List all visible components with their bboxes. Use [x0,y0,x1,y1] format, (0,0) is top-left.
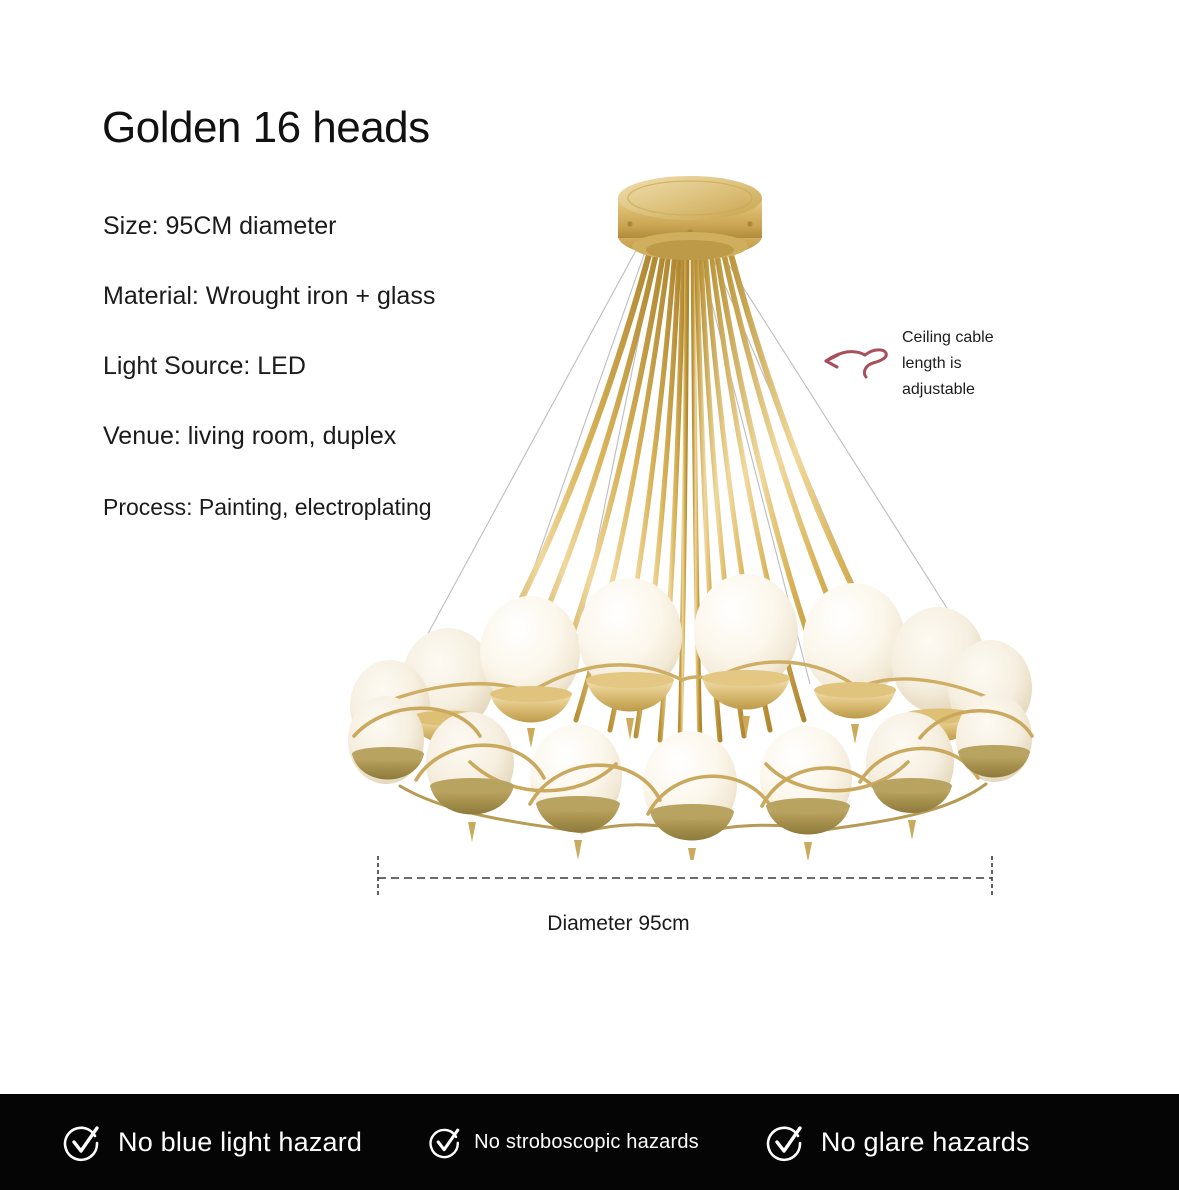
spec-line-light-source: Light Source: LED [103,352,306,381]
badge-no-glare: No glare hazards [765,1122,1030,1162]
dimension-label-wrap: Diameter 95cm [0,912,1179,936]
lamp-cup [872,778,952,840]
dimension-label: Diameter 95cm [547,912,689,936]
lamp-cup [430,778,514,842]
check-circle-icon [62,1122,102,1162]
dimension-line [370,850,1010,910]
badge-label: No stroboscopic hazards [474,1131,699,1154]
check-circle-icon [428,1125,462,1159]
ceiling-canopy [618,176,762,260]
lamp-cup [958,745,1030,778]
hazard-badge-bar: No blue light hazard No stroboscopic haz… [0,1094,1179,1190]
product-image-chandelier [330,140,1050,860]
callout-ceiling-cable: Ceiling cable length is adjustable [818,325,1038,405]
callout-line-3: adjustable [902,377,1032,403]
callout-line-1: Ceiling cable [902,325,1032,351]
curly-arrow-left-icon [818,339,890,383]
badge-label: No blue light hazard [118,1127,362,1158]
badge-no-blue-light: No blue light hazard [62,1122,362,1162]
callout-text: Ceiling cable length is adjustable [902,325,1032,403]
badge-no-stroboscopic: No stroboscopic hazards [428,1125,699,1159]
product-spec-page: Golden 16 heads Size: 95CM diameter Mate… [0,0,1179,1190]
callout-line-2: length is [902,351,1032,377]
spec-line-size: Size: 95CM diameter [103,212,336,241]
badge-label: No glare hazards [821,1127,1030,1158]
check-circle-icon [765,1122,805,1162]
